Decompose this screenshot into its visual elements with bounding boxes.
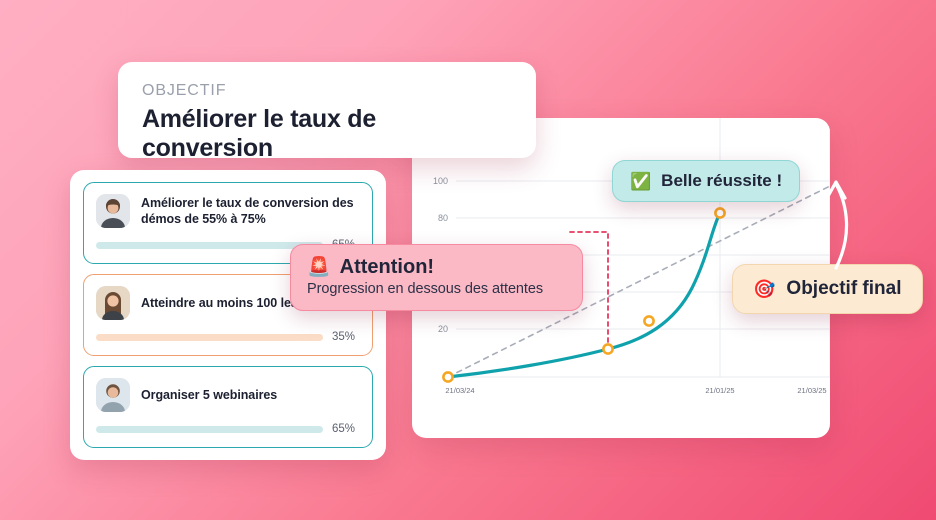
- rotating-light-emoji: 🚨: [307, 258, 331, 277]
- avatar-person-2: [96, 286, 130, 320]
- progress-bar-1: [96, 242, 323, 249]
- final-goal-badge: 🎯 Objectif final: [732, 264, 923, 314]
- page-title: Améliorer le taux de conversion: [142, 105, 512, 163]
- goals-list-card: Améliorer le taux de conversion des démo…: [70, 170, 386, 460]
- data-point-3[interactable]: [715, 208, 724, 217]
- data-point-2[interactable]: [644, 316, 653, 325]
- y-tick-100: 100: [433, 176, 448, 186]
- goal-header: Organiser 5 webinaires: [96, 378, 360, 412]
- x-axis-tick-labels: 21/03/24 21/01/25 21/03/25: [445, 386, 826, 395]
- warning-toast-title: Attention!: [340, 256, 434, 279]
- goal-progress-row: 35%: [96, 331, 360, 343]
- x-tick-2: 21/03/25: [797, 386, 826, 395]
- goal-percent-2: 35%: [332, 331, 360, 343]
- avatar-person-3: [96, 378, 130, 412]
- goal-label-2: Atteindre au moins 100 leads: [141, 295, 312, 312]
- goal-header: Améliorer le taux de conversion des démo…: [96, 194, 360, 228]
- progress-bar-2: [96, 334, 323, 341]
- goal-label-1: Améliorer le taux de conversion des démo…: [141, 195, 360, 228]
- goal-percent-3: 65%: [332, 423, 360, 435]
- goal-progress-row: 65%: [96, 423, 360, 435]
- warning-toast-header: 🚨 Attention!: [307, 256, 434, 279]
- success-toast-text: Belle réussite !: [661, 171, 782, 191]
- objective-header-card: OBJECTIF Améliorer le taux de conversion: [118, 62, 536, 158]
- success-toast: ✅ Belle réussite !: [612, 160, 800, 202]
- warning-toast: 🚨 Attention! Progression en dessous des …: [290, 244, 583, 311]
- goal-label-3: Organiser 5 webinaires: [141, 387, 277, 404]
- x-tick-0: 21/03/24: [445, 386, 474, 395]
- y-tick-80: 80: [438, 213, 448, 223]
- check-mark-button-emoji: ✅: [630, 173, 651, 190]
- avatar-person-1: [96, 194, 130, 228]
- direct-hit-emoji: 🎯: [753, 280, 775, 298]
- y-tick-20: 20: [438, 324, 448, 334]
- final-goal-text: Objectif final: [786, 278, 901, 300]
- x-tick-1: 21/01/25: [705, 386, 734, 395]
- data-point-1[interactable]: [603, 344, 612, 353]
- progress-bar-3: [96, 426, 323, 433]
- warning-toast-subtitle: Progression en dessous des attentes: [307, 281, 543, 297]
- goal-item-3[interactable]: Organiser 5 webinaires 65%: [83, 366, 373, 448]
- data-point-0[interactable]: [443, 372, 452, 381]
- grid-lines-vertical: [720, 118, 830, 377]
- objective-kicker: OBJECTIF: [142, 82, 512, 100]
